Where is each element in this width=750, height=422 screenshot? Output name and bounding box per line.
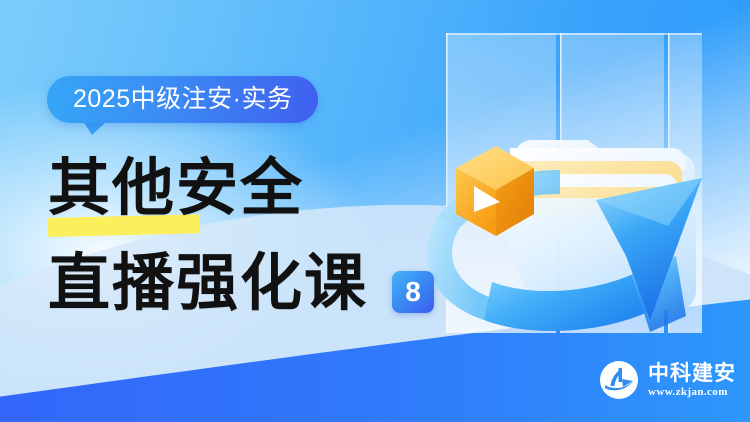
badge-tail xyxy=(83,121,107,135)
course-banner: 2025中级注安·实务 其他安全 直播强化课 8 中科建安 xyxy=(0,0,750,422)
course-category-label: 2025中级注安·实务 xyxy=(73,87,292,112)
episode-number-badge: 8 xyxy=(392,271,434,313)
headline-line-2: 直播强化课 xyxy=(48,252,368,314)
headline-line-2-row: 直播强化课 xyxy=(48,245,368,320)
brand-name: 中科建安 xyxy=(648,363,736,384)
brand-logo[interactable]: 中科建安 www.zkjan.com xyxy=(599,360,736,400)
brand-url: www.zkjan.com xyxy=(648,387,736,398)
course-category-badge[interactable]: 2025中级注安·实务 xyxy=(47,76,318,123)
headline-line-1-row: 其他安全 xyxy=(48,150,368,225)
headline-line-1: 其他安全 xyxy=(48,157,304,219)
zkjan-person-logo-icon xyxy=(599,360,639,400)
brand-logo-text: 中科建安 www.zkjan.com xyxy=(648,363,736,398)
course-illustration xyxy=(400,20,740,350)
circular-arrow-back-icon xyxy=(427,216,492,320)
episode-number-label: 8 xyxy=(405,278,421,306)
headline-block: 其他安全 直播强化课 xyxy=(48,150,368,320)
